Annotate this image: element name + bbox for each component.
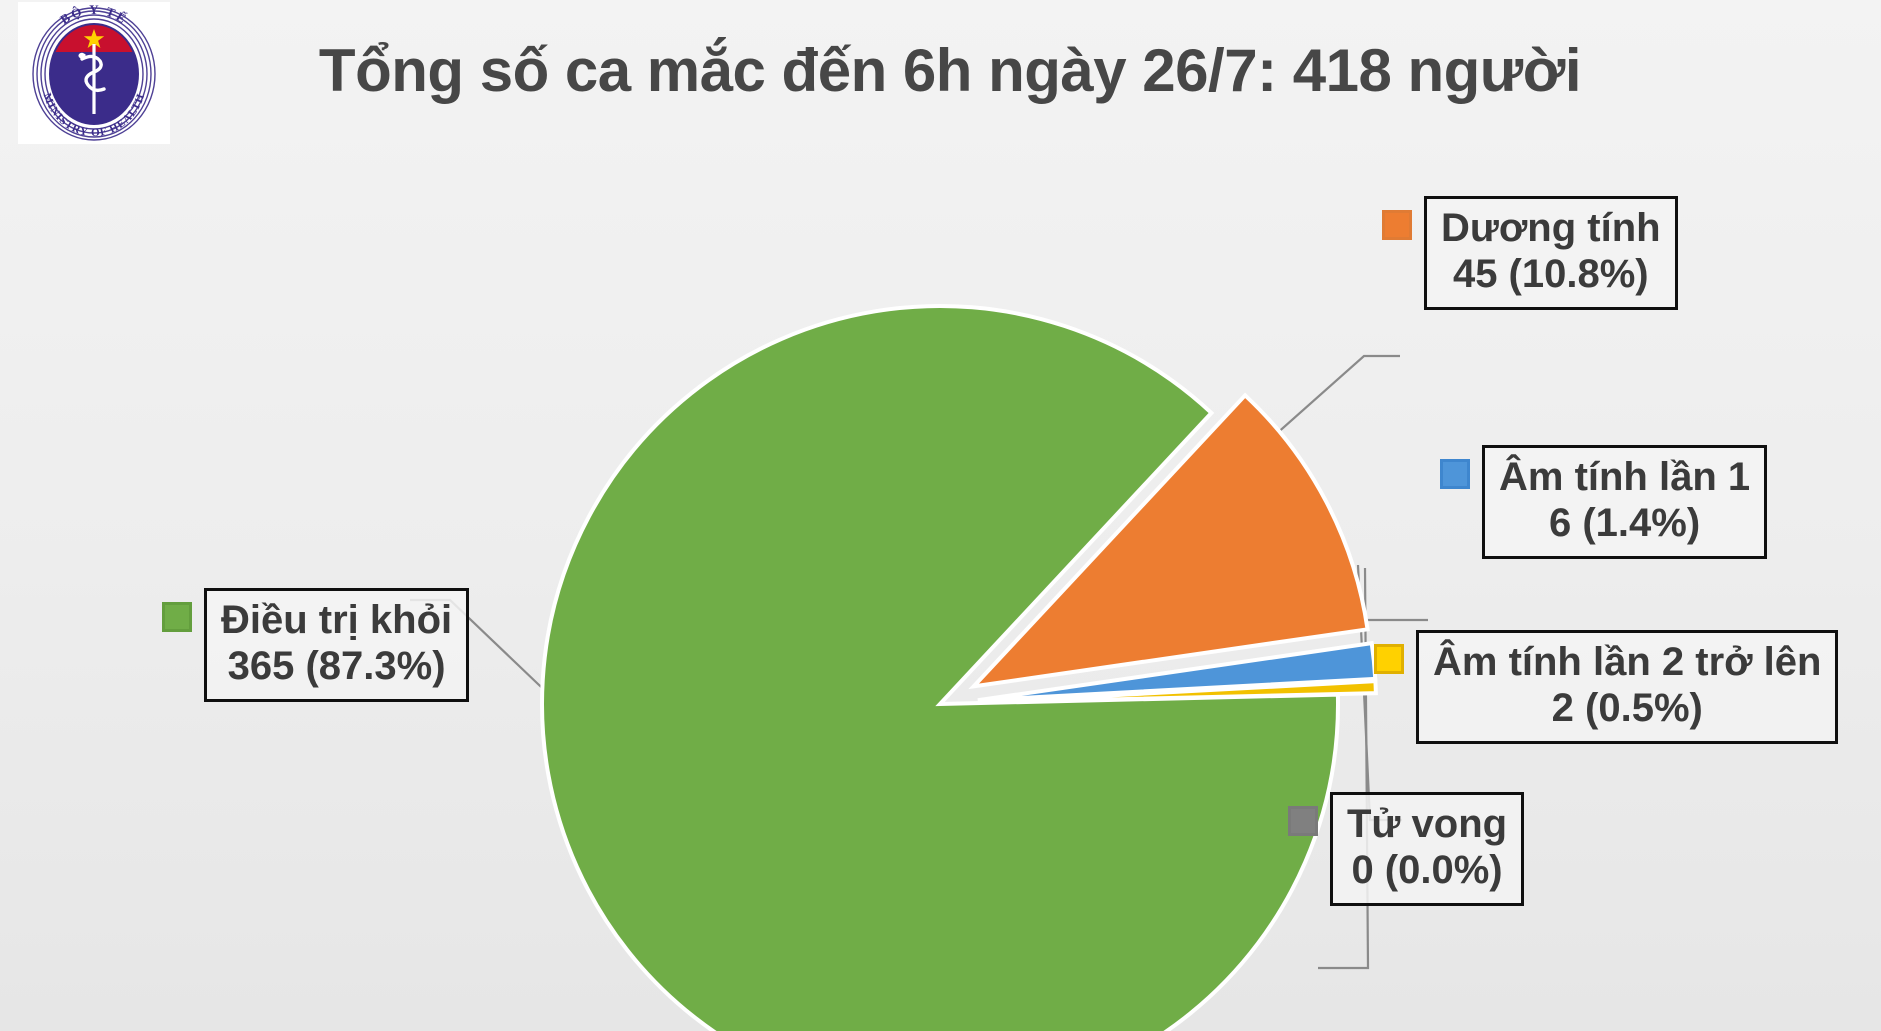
- legend-swatch-duong-tinh: [1382, 210, 1412, 240]
- legend-swatch-am-tinh-lan-1: [1440, 459, 1470, 489]
- label-box-dieu-tri-khoi: Điều trị khỏi 365 (87.3%): [204, 588, 469, 702]
- label-value-am-tinh-lan-2: 2 (0.5%): [1433, 685, 1821, 731]
- label-box-am-tinh-lan-1: Âm tính lần 1 6 (1.4%): [1482, 445, 1767, 559]
- label-box-duong-tinh: Dương tính 45 (10.8%): [1424, 196, 1678, 310]
- callout-tu-vong[interactable]: Tử vong 0 (0.0%): [1288, 792, 1524, 906]
- ministry-of-health-logo: BỘ Y TẾ MINISTRY OF HEALTH: [18, 2, 170, 144]
- label-value-am-tinh-lan-1: 6 (1.4%): [1499, 500, 1750, 546]
- label-name-duong-tinh: Dương tính: [1441, 206, 1661, 250]
- pie-slices: [542, 306, 1376, 1031]
- slide-canvas: BỘ Y TẾ MINISTRY OF HEALTH Tổng số ca mắ…: [0, 0, 1881, 1031]
- label-name-am-tinh-lan-1: Âm tính lần 1: [1499, 455, 1750, 499]
- callout-am-tinh-lan-2[interactable]: Âm tính lần 2 trở lên 2 (0.5%): [1374, 630, 1838, 744]
- label-name-am-tinh-lan-2: Âm tính lần 2 trở lên: [1433, 640, 1821, 684]
- label-name-dieu-tri-khoi: Điều trị khỏi: [221, 598, 452, 642]
- label-value-dieu-tri-khoi: 365 (87.3%): [221, 643, 452, 689]
- label-box-am-tinh-lan-2: Âm tính lần 2 trở lên 2 (0.5%): [1416, 630, 1838, 744]
- label-value-tu-vong: 0 (0.0%): [1347, 847, 1507, 893]
- callout-dieu-tri-khoi[interactable]: Điều trị khỏi 365 (87.3%): [162, 588, 469, 702]
- label-value-duong-tinh: 45 (10.8%): [1441, 251, 1661, 297]
- legend-swatch-am-tinh-lan-2: [1374, 644, 1404, 674]
- label-box-tu-vong: Tử vong 0 (0.0%): [1330, 792, 1524, 906]
- callout-am-tinh-lan-1[interactable]: Âm tính lần 1 6 (1.4%): [1440, 445, 1767, 559]
- logo-graphic: BỘ Y TẾ MINISTRY OF HEALTH: [18, 2, 170, 144]
- legend-swatch-tu-vong: [1288, 806, 1318, 836]
- callout-duong-tinh[interactable]: Dương tính 45 (10.8%): [1382, 196, 1678, 310]
- page-title: Tổng số ca mắc đến 6h ngày 26/7: 418 ngư…: [190, 36, 1710, 105]
- label-name-tu-vong: Tử vong: [1347, 802, 1507, 846]
- legend-swatch-dieu-tri-khoi: [162, 602, 192, 632]
